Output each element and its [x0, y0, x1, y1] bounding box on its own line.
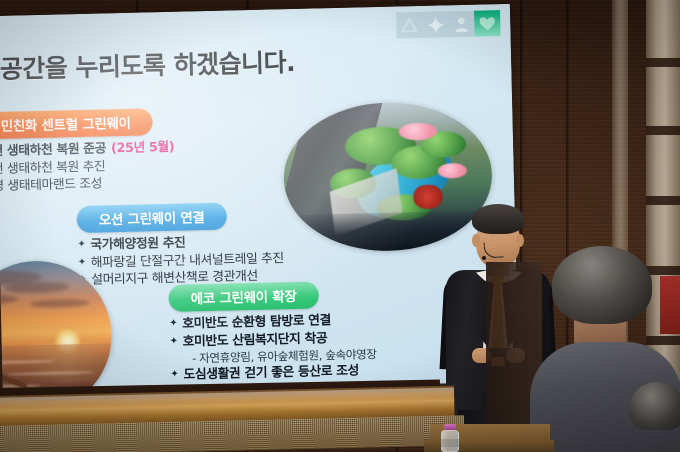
presenter-hair [472, 204, 524, 234]
bullet-accent: (25년 5월) [111, 139, 175, 158]
bullet-marker-icon: ✦ [78, 255, 86, 271]
bullet-text: 국가해양정원 추진 [90, 235, 185, 255]
screenshot-root: 지공간을 누리도록 하겠습니다. 시민친화 센트럴 그린웨이 [0, 0, 680, 452]
audience-corner-head [630, 382, 680, 430]
presenter-ear-left [472, 234, 480, 247]
water-bottle [440, 424, 460, 452]
triangle-icon [396, 12, 423, 39]
section-heading-eco: 에코 그린웨이 확장 [168, 281, 318, 312]
bullet-marker-icon: ✦ [170, 367, 178, 383]
person-icon [448, 11, 475, 38]
slide-title: 지공간을 누리도록 하겠습니다. [0, 43, 295, 86]
section-heading-ocean: 오션 그린웨이 연결 [77, 203, 227, 234]
bullet-item: ✦ 환경 생태테마랜드 조성 [0, 174, 175, 197]
bullet-marker-icon: ✦ [169, 316, 177, 332]
slide-logo [396, 10, 501, 38]
sparkle-icon [422, 11, 449, 38]
bottle-label [441, 439, 459, 447]
headset-mic-tip [482, 256, 486, 260]
section-heading-central: 시민친화 센트럴 그린웨이 [0, 108, 153, 139]
section-ocean-greenway: 오션 그린웨이 연결 ✦ 국가해양정원 추진 ✦ 해파랑길 단절구간 내셔널트레… [77, 201, 285, 290]
bullet-list-eco: ✦ 호미반도 순환형 탐방로 연결 ✦ 호미반도 산림복지단지 착공 - 자연휴… [169, 311, 377, 385]
bullet-marker-icon: ✦ [170, 333, 178, 349]
bullet-marker-icon: ✦ [77, 237, 85, 253]
audience-hair [552, 246, 652, 324]
bullet-text: 환경 생태테마랜드 조성 [0, 176, 102, 197]
bullet-list-central: ✦ 산천 생태하천 복원 준공 (25년 5월) ✦ 학천 생태하천 복원 추진… [0, 139, 175, 197]
section-eco-greenway: 에코 그린웨이 확장 ✦ 호미반도 순환형 탐방로 연결 ✦ 호미반도 산림복지… [168, 280, 377, 385]
section-central-greenway: 시민친화 센트럴 그린웨이 ✦ 산천 생태하천 복원 준공 (25년 5월) ✦… [0, 108, 175, 197]
presenter-ear-right [516, 234, 524, 247]
bullet-list-ocean: ✦ 국가해양정원 추진 ✦ 해파랑길 단절구간 내셔널트레일 추진 ✦ 설머리지… [77, 232, 284, 290]
heart-icon [474, 10, 501, 37]
